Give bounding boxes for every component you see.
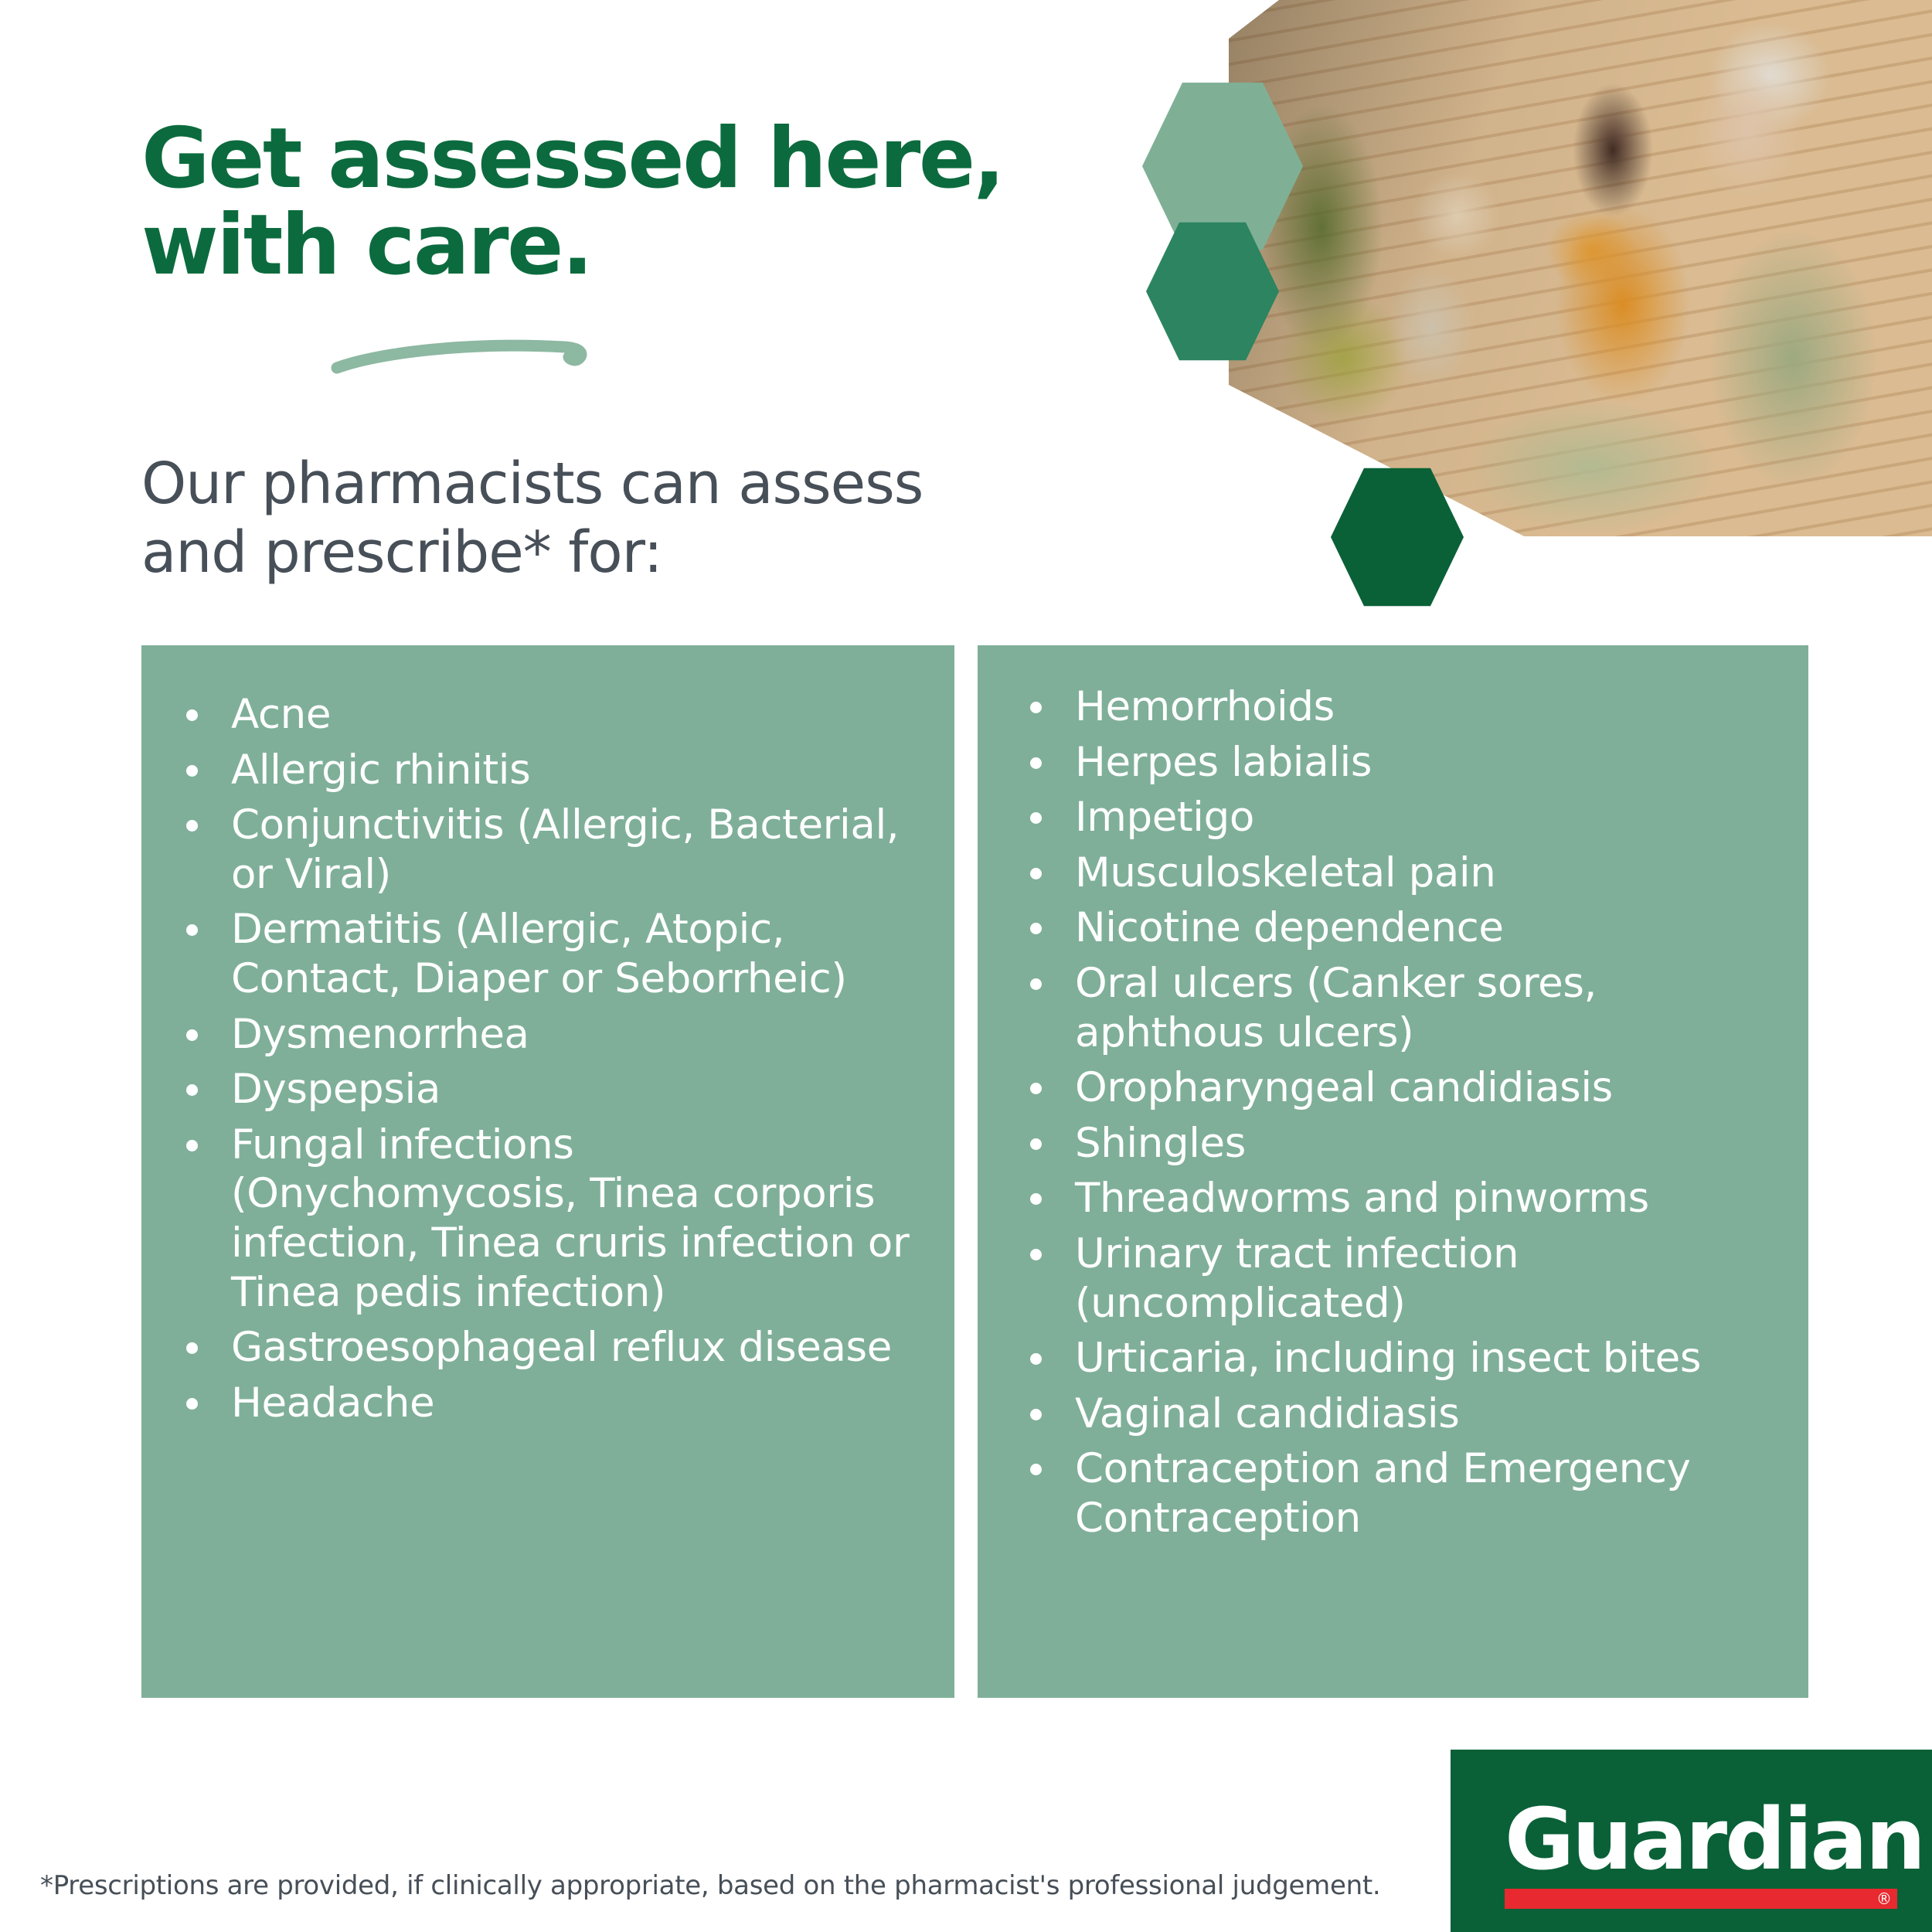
subheading: Our pharmacists can assess and prescribe… [141, 450, 1053, 587]
hero-photo [1229, 0, 1932, 536]
list-item: Urticaria, including insect bites [1009, 1334, 1785, 1383]
list-item: Vaginal candidiasis [1009, 1389, 1785, 1439]
list-item: Fungal infections (Onychomycosis, Tinea … [165, 1121, 931, 1317]
guardian-logo: Guardian ® [1451, 1750, 1932, 1932]
conditions-panel-left: Acne Allergic rhinitis Conjunctivitis (A… [141, 645, 954, 1698]
poster-canvas: Get assessed here, with care. Our pharma… [0, 0, 1932, 1932]
underline-swoosh-icon [332, 334, 587, 374]
list-item: Dermatitis (Allergic, Atopic, Contact, D… [165, 905, 931, 1003]
list-item: Shingles [1009, 1119, 1785, 1168]
conditions-list-right: Hemorrhoids Herpes labialis Impetigo Mus… [1009, 682, 1785, 1543]
list-item: Allergic rhinitis [165, 746, 931, 795]
list-item: Dysmenorrhea [165, 1010, 931, 1060]
list-item: Musculoskeletal pain [1009, 849, 1785, 898]
list-item: Impetigo [1009, 793, 1785, 842]
list-item: Gastroesophageal reflux disease [165, 1323, 931, 1372]
subheading-line-1: Our pharmacists can assess [141, 451, 923, 517]
list-item: Oral ulcers (Canker sores, aphthous ulce… [1009, 959, 1785, 1057]
headline-line-2: with care. [141, 202, 1084, 289]
list-item: Herpes labialis [1009, 738, 1785, 787]
list-item: Headache [165, 1379, 931, 1428]
registered-trademark-icon: ® [1874, 1889, 1894, 1909]
hero-photo-shade [1229, 0, 1932, 536]
list-item: Urinary tract infection (uncomplicated) [1009, 1230, 1785, 1328]
list-item: Contraception and Emergency Contraceptio… [1009, 1444, 1785, 1543]
conditions-list-left: Acne Allergic rhinitis Conjunctivitis (A… [165, 690, 931, 1427]
list-item: Acne [165, 690, 931, 740]
guardian-wordmark: Guardian [1505, 1790, 1923, 1889]
list-item: Hemorrhoids [1009, 682, 1785, 732]
list-item: Dyspepsia [165, 1065, 931, 1114]
headline: Get assessed here, with care. [141, 116, 1084, 290]
list-item: Threadworms and pinworms [1009, 1174, 1785, 1223]
list-item: Conjunctivitis (Allergic, Bacterial, or … [165, 801, 931, 899]
subheading-line-2: and prescribe* for: [141, 519, 1053, 587]
headline-line-1: Get assessed here, [141, 111, 1003, 207]
conditions-panel-right: Hemorrhoids Herpes labialis Impetigo Mus… [978, 645, 1808, 1698]
list-item: Nicotine dependence [1009, 903, 1785, 953]
guardian-red-bar [1505, 1889, 1897, 1909]
footnote-disclaimer: *Prescriptions are provided, if clinical… [40, 1870, 1380, 1901]
list-item: Oropharyngeal candidiasis [1009, 1063, 1785, 1113]
